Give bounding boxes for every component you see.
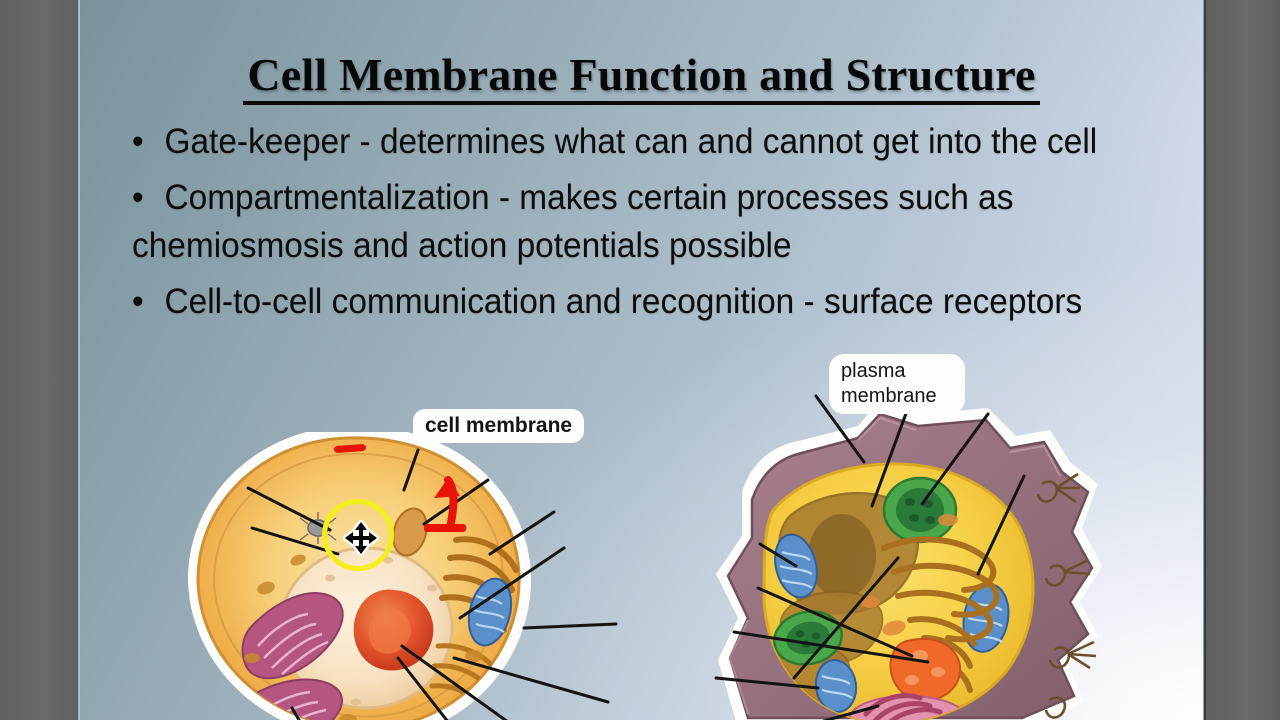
list-item: • Gate-keeper - determines what can and …: [132, 118, 1144, 166]
letterbox-bar-left: [0, 0, 80, 720]
list-item-text: Gate-keeper - determines what can and ca…: [132, 118, 1144, 166]
video-player-frame: Cell Membrane Function and Structure • G…: [0, 0, 1280, 720]
list-item-text: Cell-to-cell communication and recogniti…: [132, 278, 1144, 326]
page-title: Cell Membrane Function and Structure: [80, 48, 1203, 105]
slide-edge-right: [1203, 0, 1206, 720]
red-arrow-annotation: [410, 466, 474, 536]
animal-cell-diagram: [188, 432, 618, 720]
chloroplast: [884, 478, 956, 542]
plant-cell-diagram: [698, 388, 1128, 720]
presentation-slide: Cell Membrane Function and Structure • G…: [80, 0, 1203, 720]
letterbox-bar-right: [1206, 0, 1280, 720]
list-item: • Cell-to-cell communication and recogni…: [132, 278, 1144, 326]
bullet-list: • Gate-keeper - determines what can and …: [132, 118, 1144, 334]
vacuole-core: [808, 514, 876, 598]
nucleus: [890, 639, 960, 701]
bullet-marker-icon: •: [132, 278, 165, 326]
callout-plasma-membrane: plasma membrane: [832, 357, 962, 411]
move-cursor: [343, 520, 379, 556]
bullet-marker-icon: •: [132, 174, 165, 222]
page-title-text: Cell Membrane Function and Structure: [243, 51, 1039, 105]
callout-cell-membrane: cell membrane: [416, 412, 581, 440]
bullet-marker-icon: •: [132, 118, 165, 166]
list-item-text: Compartmentalization - makes certain pro…: [132, 174, 1144, 270]
list-item: • Compartmentalization - makes certain p…: [132, 174, 1144, 270]
